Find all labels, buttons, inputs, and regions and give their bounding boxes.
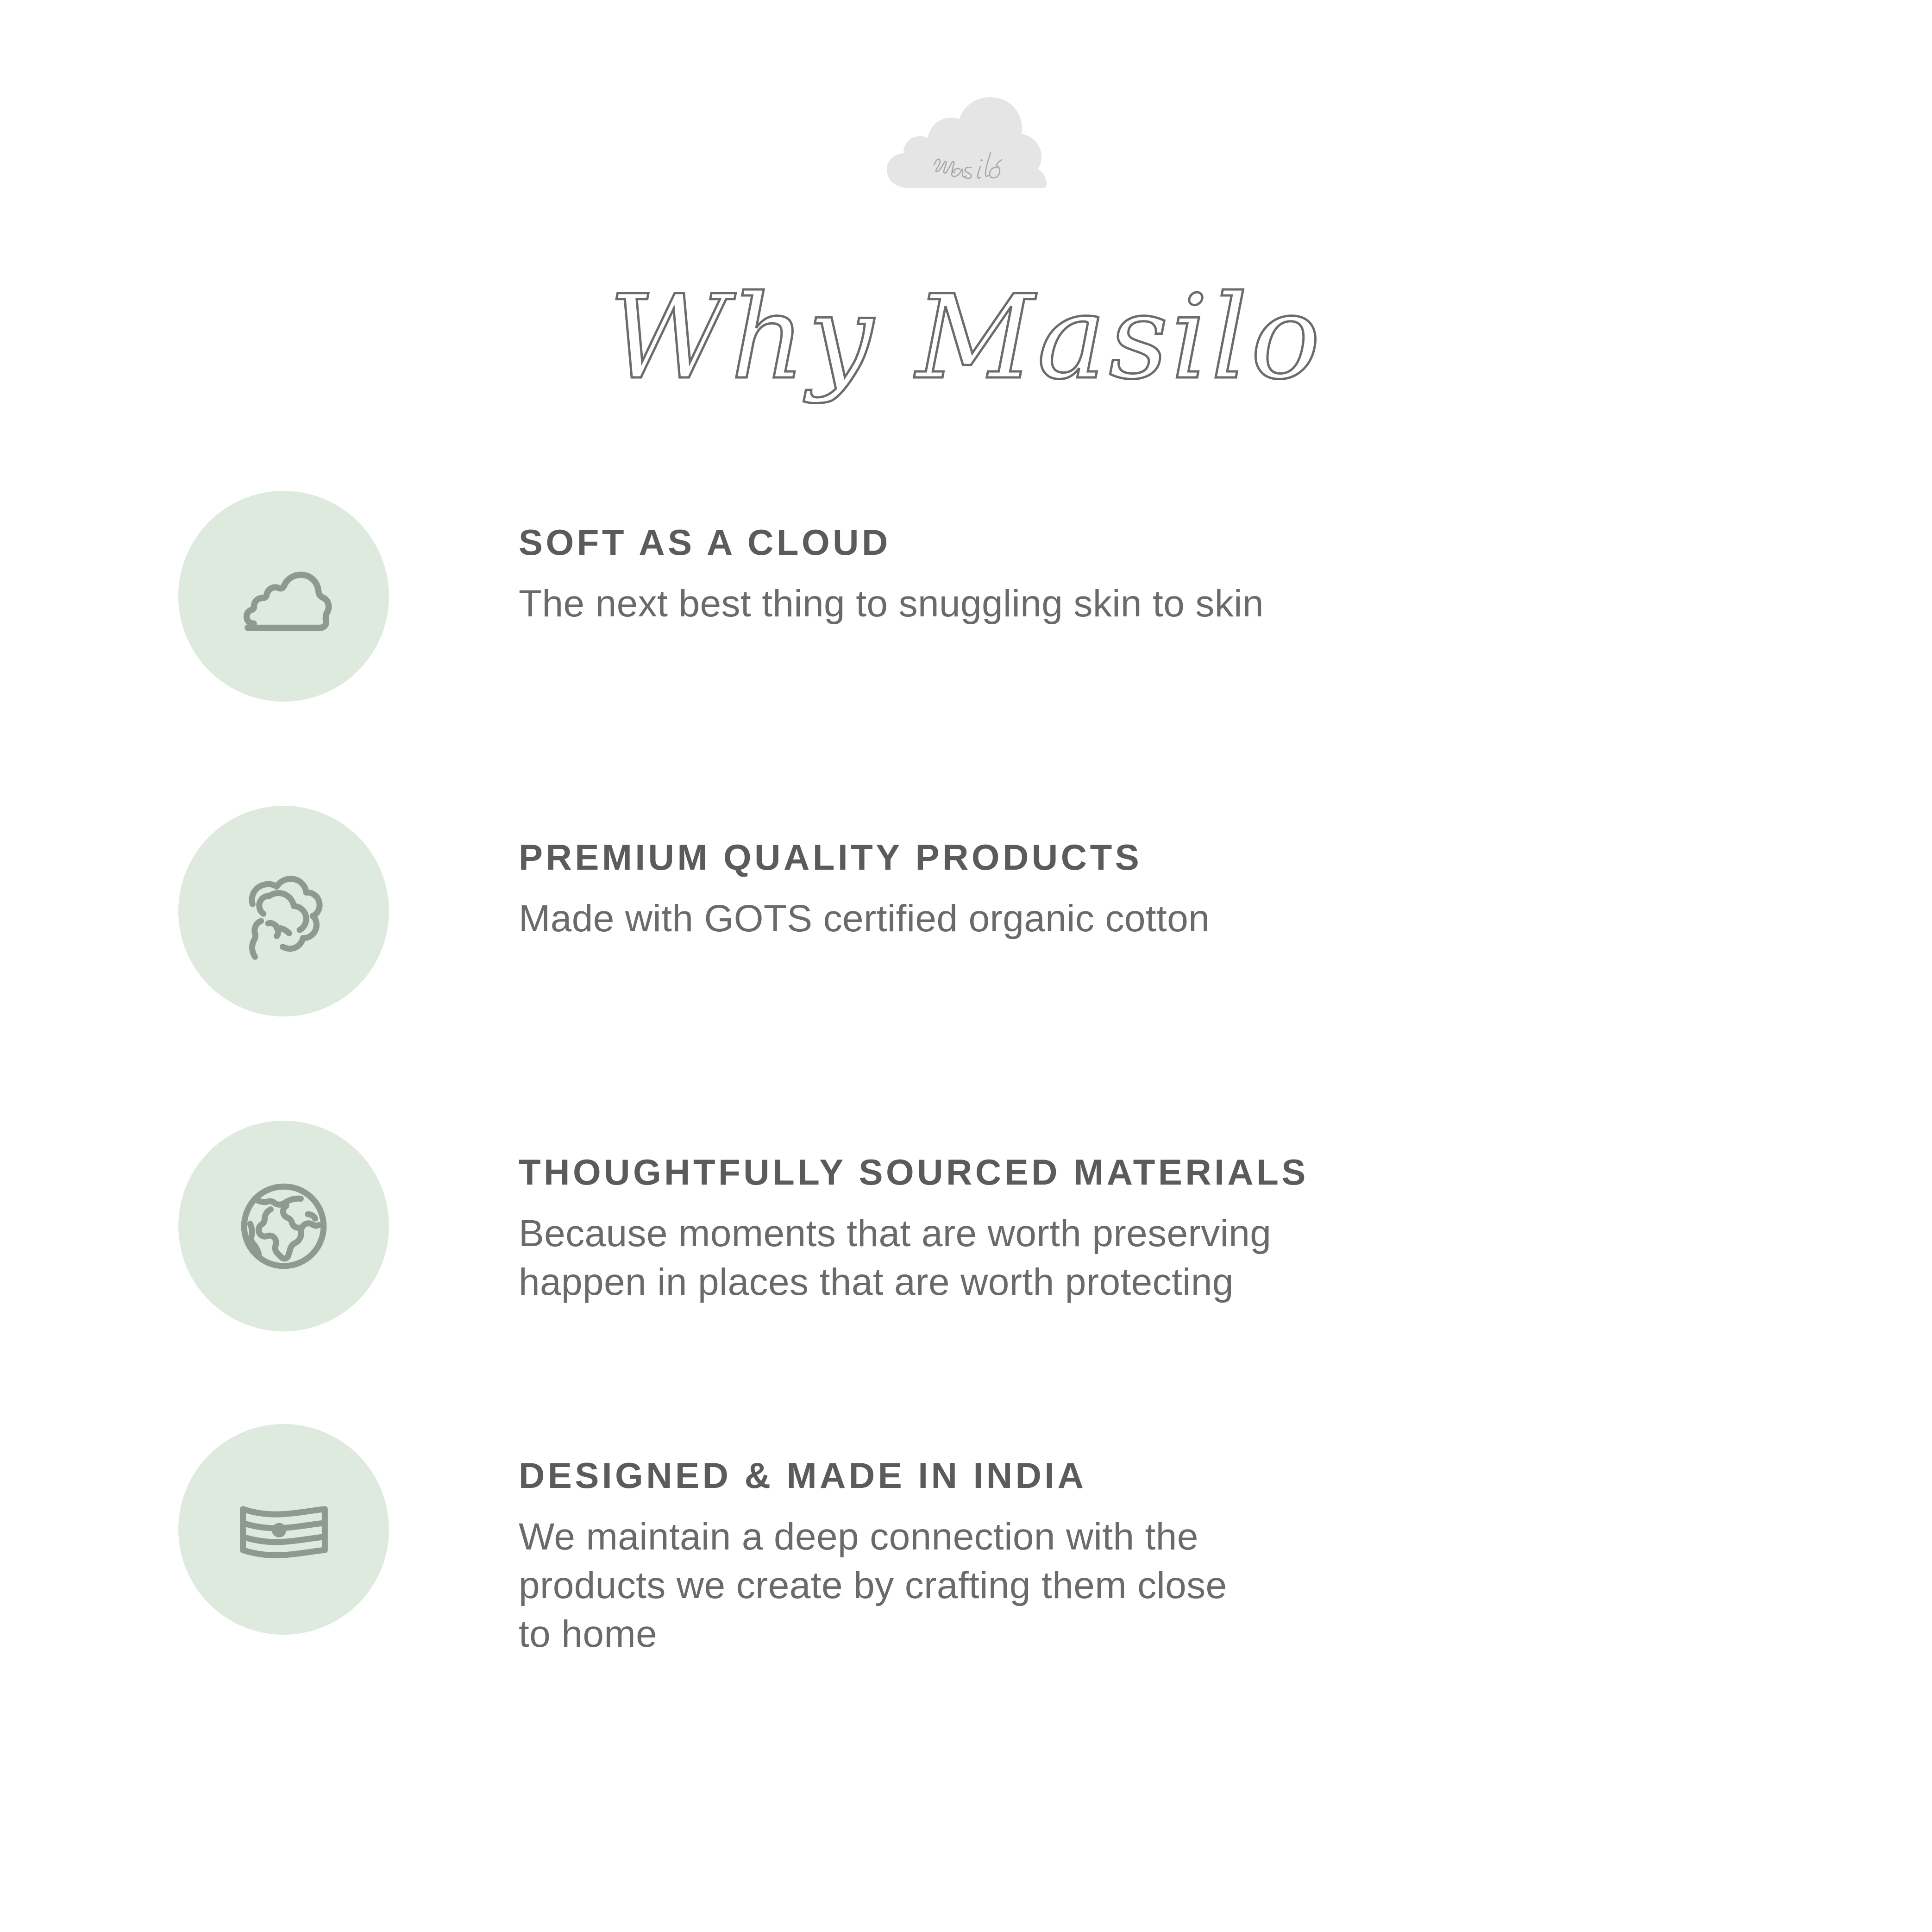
feature-description-line: We maintain a deep connection with the: [519, 1513, 1667, 1562]
page-title: Why Masilo: [0, 259, 1932, 412]
feature-description-line: happen in places that are worth protecti…: [519, 1258, 1667, 1307]
feature-item-thoughtfully-sourced-materials: THOUGHTFULLY SOURCED MATERIALS Because m…: [0, 1121, 1932, 1331]
cloud-icon: [224, 536, 344, 657]
feature-description-line: The next best thing to snuggling skin to…: [519, 580, 1667, 628]
feature-heading: PREMIUM QUALITY PRODUCTS: [519, 839, 1667, 875]
icon-badge: [178, 1424, 389, 1635]
feature-heading: DESIGNED & MADE IN INDIA: [519, 1457, 1667, 1493]
feature-text-block: THOUGHTFULLY SOURCED MATERIALS Because m…: [389, 1121, 1667, 1307]
feature-description-line: products we create by crafting them clos…: [519, 1562, 1667, 1610]
page-title-text: Why Masilo: [609, 270, 1323, 405]
feature-list: SOFT AS A CLOUD The next best thing to s…: [0, 491, 1932, 1659]
feature-description: Because moments that are worth preservin…: [519, 1210, 1667, 1307]
feature-description: Made with GOTS certified organic cotton: [519, 895, 1667, 943]
feature-description-line: to home: [519, 1610, 1667, 1659]
cloud-logo-icon: [880, 97, 1052, 197]
icon-badge: [178, 1121, 389, 1331]
feature-description: The next best thing to snuggling skin to…: [519, 580, 1667, 628]
feature-description: We maintain a deep connection with the p…: [519, 1513, 1667, 1659]
cotton-boll-icon: [224, 851, 344, 972]
brand-logo: [0, 97, 1932, 197]
feature-description-line: Because moments that are worth preservin…: [519, 1210, 1667, 1258]
globe-icon: [224, 1166, 344, 1286]
feature-text-block: SOFT AS A CLOUD The next best thing to s…: [389, 491, 1667, 628]
icon-badge: [178, 806, 389, 1016]
feature-text-block: PREMIUM QUALITY PRODUCTS Made with GOTS …: [389, 806, 1667, 943]
feature-text-block: DESIGNED & MADE IN INDIA We maintain a d…: [389, 1424, 1667, 1659]
icon-badge: [178, 491, 389, 702]
feature-heading: SOFT AS A CLOUD: [519, 524, 1667, 560]
feature-item-premium-quality-products: PREMIUM QUALITY PRODUCTS Made with GOTS …: [0, 806, 1932, 1016]
feature-item-soft-as-a-cloud: SOFT AS A CLOUD The next best thing to s…: [0, 491, 1932, 702]
india-flag-icon: [224, 1469, 344, 1590]
feature-item-designed-and-made-in-india: DESIGNED & MADE IN INDIA We maintain a d…: [0, 1424, 1932, 1659]
feature-heading: THOUGHTFULLY SOURCED MATERIALS: [519, 1154, 1667, 1190]
feature-description-line: Made with GOTS certified organic cotton: [519, 895, 1667, 943]
